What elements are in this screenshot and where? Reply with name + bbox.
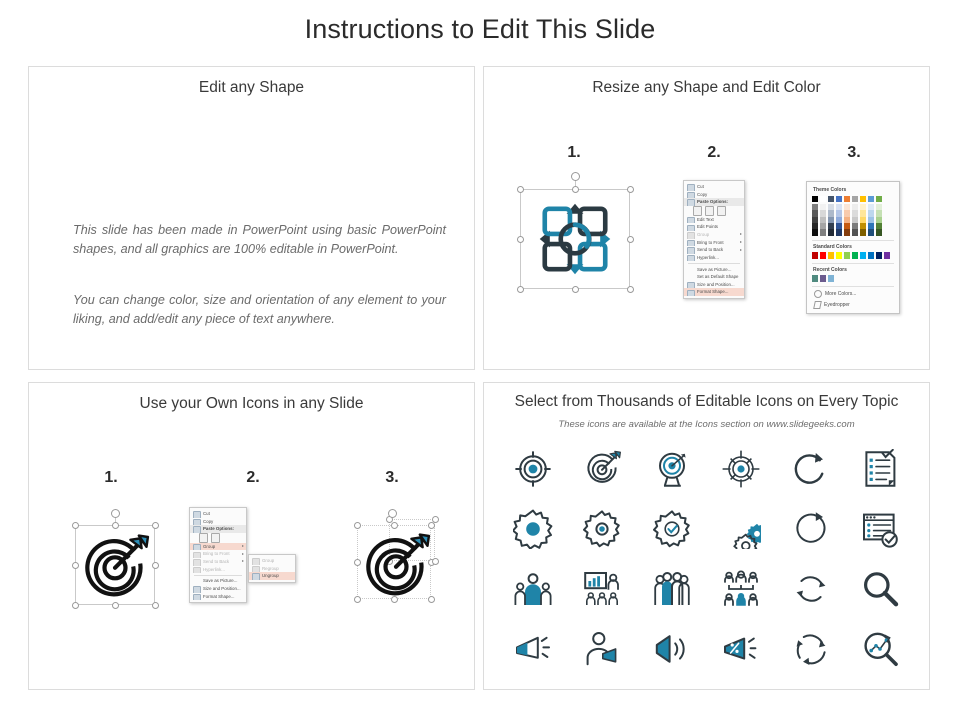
icon-cell[interactable]: [580, 447, 624, 491]
team-leader-icon: [513, 569, 553, 609]
menu-item-size-and-position[interactable]: Size and Position...: [190, 585, 246, 593]
picker-divider-3: [812, 286, 894, 287]
color-swatch[interactable]: [852, 196, 858, 202]
dartboard-arrow-ungrouped-icon: [361, 529, 431, 599]
team-hierarchy-icon: [721, 569, 761, 609]
step-number-3: 3.: [824, 144, 884, 162]
resize-handle-e[interactable]: [152, 562, 159, 569]
hyperlink-icon: [687, 255, 695, 261]
presentation-audience-icon: [582, 569, 622, 609]
icon-cell[interactable]: [719, 447, 763, 491]
panel-title-resize-shape: Resize any Shape and Edit Color: [484, 79, 929, 97]
theme-colors-label: Theme Colors: [813, 187, 894, 193]
menu-item-group[interactable]: Group: [190, 543, 246, 551]
step-number-3: 3.: [362, 469, 422, 487]
chevron-right-icon: [740, 249, 742, 251]
resize-handle-sw[interactable]: [72, 602, 79, 609]
resize-handle-ne[interactable]: [428, 522, 435, 529]
step-number-1: 1.: [81, 469, 141, 487]
menu-item-bring-to-front[interactable]: Bring to Front: [684, 239, 744, 247]
recent-colors-row[interactable]: [812, 275, 894, 281]
resize-handle-ne[interactable]: [152, 522, 159, 529]
color-swatch[interactable]: [836, 252, 842, 258]
target-stand-arrow-icon: [652, 449, 692, 489]
dartboard-arrow-icon: [80, 530, 150, 600]
color-swatch[interactable]: [828, 275, 834, 281]
color-swatch[interactable]: [836, 229, 842, 235]
rotate-handle[interactable]: [111, 509, 120, 518]
paste-text-only-icon[interactable]: [717, 206, 726, 216]
clipboard-icon: [193, 526, 201, 532]
submenu-item-ungroup[interactable]: Ungroup: [249, 572, 295, 580]
description-paragraph-1: This slide has been made in PowerPoint u…: [73, 221, 446, 259]
color-swatch[interactable]: [812, 252, 818, 258]
color-swatch[interactable]: [828, 252, 834, 258]
paste-picture-icon[interactable]: [705, 206, 714, 216]
group-people-icon: [652, 569, 692, 609]
megaphone-icon: [513, 629, 553, 669]
menu-item-copy[interactable]: Copy: [684, 191, 744, 199]
color-swatch[interactable]: [860, 196, 866, 202]
gear-filled-icon: [513, 509, 553, 549]
color-swatch[interactable]: [844, 229, 850, 235]
chevron-right-icon: [740, 241, 742, 243]
resize-shape-demo[interactable]: [515, 177, 635, 297]
panel-title-own-icons: Use your Own Icons in any Slide: [29, 395, 474, 413]
icon-cell[interactable]: [789, 507, 833, 551]
menu-separator: [688, 263, 740, 264]
crosshair-scope-icon: [721, 449, 761, 489]
chevron-right-icon: [242, 560, 244, 562]
color-swatch[interactable]: [876, 252, 882, 258]
menu-item-format-shape[interactable]: Format Shape...: [190, 593, 246, 601]
panel-own-icons: Use your Own Icons in any Slide 1. 2. 3.: [28, 382, 475, 690]
panel-edit-any-shape: Edit any Shape This slide has been made …: [28, 66, 475, 370]
color-wheel-icon: [814, 290, 822, 298]
more-colors-option[interactable]: More Colors...: [812, 290, 894, 298]
menu-item-format-shape[interactable]: Format Shape...: [684, 288, 744, 296]
refresh-circle-arrow-icon: [791, 509, 831, 549]
icon-cell[interactable]: [511, 447, 555, 491]
standard-colors-row[interactable]: [812, 252, 894, 258]
menu-item-copy[interactable]: Copy: [190, 518, 246, 526]
color-swatch[interactable]: [812, 229, 818, 235]
color-swatch[interactable]: [820, 229, 826, 235]
icon-cell[interactable]: [719, 627, 763, 671]
menu-item-cut[interactable]: Cut: [684, 183, 744, 191]
theme-tint-column[interactable]: [852, 204, 858, 236]
icon-cell[interactable]: [650, 627, 694, 671]
menu-item-send-to-back: Send to Back: [190, 558, 246, 566]
person-megaphone-icon: [582, 629, 622, 669]
panel-subtitle-icon-library: These icons are available at the Icons s…: [484, 419, 929, 430]
two-way-sync-icon: [791, 569, 831, 609]
theme-tint-column[interactable]: [844, 204, 850, 236]
menu-item-cut[interactable]: Cut: [190, 510, 246, 518]
menu-item-save-as-picture[interactable]: Save as Picture...: [684, 266, 744, 274]
icon-cell[interactable]: [858, 627, 902, 671]
icon-cell[interactable]: [858, 507, 902, 551]
menu-item-size-and-position[interactable]: Size and Position...: [684, 281, 744, 289]
gear-check-icon: [652, 509, 692, 549]
panel-resize-shape: Resize any Shape and Edit Color 1. 2. 3.: [483, 66, 930, 370]
clipboard-icon: [687, 199, 695, 205]
chevron-right-icon: [740, 233, 742, 235]
color-swatch[interactable]: [868, 196, 874, 202]
dartboard-arrow-icon: [582, 449, 622, 489]
step-number-1: 1.: [544, 144, 604, 162]
resize-handle-w[interactable]: [354, 559, 361, 566]
resize-handle-s[interactable]: [572, 286, 579, 293]
menu-item-paste-options[interactable]: Paste Options:: [684, 198, 744, 206]
megaphone-percent-icon: [721, 629, 761, 669]
submenu-item-regroup: Regroup: [249, 565, 295, 573]
resize-handle-sw[interactable]: [517, 286, 524, 293]
color-swatch[interactable]: [884, 252, 890, 258]
icon-cell[interactable]: [858, 567, 902, 611]
menu-item-edit-points[interactable]: Edit Points: [684, 223, 744, 231]
dartboard-ungrouped-demo[interactable]: [345, 509, 445, 611]
rotate-handle[interactable]: [388, 509, 397, 518]
icon-cell[interactable]: [719, 507, 763, 551]
theme-tint-column[interactable]: [828, 204, 834, 236]
icon-cell[interactable]: [580, 627, 624, 671]
description-paragraph-2: You can change color, size and orientati…: [73, 291, 446, 329]
panel-icon-library: Select from Thousands of Editable Icons …: [483, 382, 930, 690]
color-swatch[interactable]: [852, 229, 858, 235]
color-swatch[interactable]: [828, 229, 834, 235]
checklist-document-icon: [860, 449, 900, 489]
format-shape-icon: [687, 290, 695, 296]
theme-tint-column[interactable]: [836, 204, 842, 236]
speaker-announce-icon: [652, 629, 692, 669]
icon-cell[interactable]: [650, 447, 694, 491]
resize-handle-e[interactable]: [627, 236, 634, 243]
color-swatch[interactable]: [820, 275, 826, 281]
submenu-item-group: Group: [249, 557, 295, 565]
recent-colors-label: Recent Colors: [813, 267, 894, 273]
part-handle-se[interactable]: [432, 558, 439, 565]
color-swatch[interactable]: [836, 196, 842, 202]
rotate-handle[interactable]: [571, 172, 580, 181]
page-title: Instructions to Edit This Slide: [0, 14, 960, 45]
picker-divider: [812, 240, 894, 241]
icon-context-menu[interactable]: Cut Copy Paste Options: Group Bring to F…: [189, 507, 247, 603]
icon-cell[interactable]: [789, 627, 833, 671]
eyedropper-option[interactable]: Eyedropper: [812, 301, 894, 309]
menu-item-hyperlink: Hyperlink...: [190, 566, 246, 574]
step-number-2: 2.: [684, 144, 744, 162]
color-swatch[interactable]: [844, 196, 850, 202]
theme-tint-column[interactable]: [820, 204, 826, 236]
icon-cell[interactable]: [789, 447, 833, 491]
resize-handle-n[interactable]: [572, 186, 579, 193]
icon-cell[interactable]: [650, 507, 694, 551]
paste-options-row[interactable]: [684, 206, 744, 216]
eyedropper-icon: [813, 301, 822, 309]
step-number-2: 2.: [223, 469, 283, 487]
menu-item-paste-options[interactable]: Paste Options:: [190, 525, 246, 533]
resize-handle-s[interactable]: [112, 602, 119, 609]
paste-picture-icon[interactable]: [211, 533, 220, 543]
color-swatch[interactable]: [868, 229, 874, 235]
color-swatch[interactable]: [820, 196, 826, 202]
resize-handle-n[interactable]: [391, 522, 398, 529]
icon-cell[interactable]: [511, 567, 555, 611]
color-swatch[interactable]: [828, 196, 834, 202]
format-shape-icon: [193, 594, 201, 600]
double-gear-icon: [721, 509, 761, 549]
chevron-right-icon: [242, 553, 244, 555]
checklist-approved-icon: [860, 509, 900, 549]
dartboard-grouped-demo[interactable]: [67, 511, 163, 611]
resize-handle-w[interactable]: [72, 562, 79, 569]
icon-cell[interactable]: [580, 567, 624, 611]
color-swatch[interactable]: [812, 275, 818, 281]
paste-keep-formatting-icon[interactable]: [693, 206, 702, 216]
icon-cell[interactable]: [789, 567, 833, 611]
color-swatch[interactable]: [860, 252, 866, 258]
menu-item-send-to-back[interactable]: Send to Back: [684, 246, 744, 254]
color-swatch[interactable]: [860, 229, 866, 235]
color-swatch[interactable]: [876, 229, 882, 235]
magnifier-icon: [860, 569, 900, 609]
resize-handle-nw[interactable]: [72, 522, 79, 529]
icon-cell[interactable]: [650, 567, 694, 611]
chevron-right-icon: [242, 545, 244, 547]
ungroup-icon: [252, 573, 260, 579]
icon-library-grid: [498, 439, 915, 679]
theme-tint-column[interactable]: [876, 204, 882, 236]
menu-item-group: Group: [684, 231, 744, 239]
theme-colors-base-row[interactable]: [812, 196, 894, 202]
four-squares-resize-icon: [528, 197, 622, 281]
icon-cell[interactable]: [511, 627, 555, 671]
icon-cell[interactable]: [511, 507, 555, 551]
slide-canvas: Instructions to Edit This Slide Edit any…: [0, 0, 960, 720]
part-handle-ne[interactable]: [432, 516, 439, 523]
theme-tint-column[interactable]: [860, 204, 866, 236]
resize-handle-n[interactable]: [112, 522, 119, 529]
resize-handle-ne[interactable]: [627, 186, 634, 193]
color-swatch[interactable]: [876, 196, 882, 202]
picker-divider-2: [812, 263, 894, 264]
panel-title-icon-library: Select from Thousands of Editable Icons …: [484, 393, 929, 411]
gear-outline-icon: [582, 509, 622, 549]
standard-colors-label: Standard Colors: [813, 244, 894, 250]
menu-item-hyperlink[interactable]: Hyperlink...: [684, 254, 744, 262]
group-submenu[interactable]: Group Regroup Ungroup: [248, 554, 296, 583]
resize-handle-nw[interactable]: [517, 186, 524, 193]
paste-options-row[interactable]: [190, 533, 246, 543]
color-swatch[interactable]: [852, 252, 858, 258]
icon-cell[interactable]: [719, 567, 763, 611]
theme-colors-tint-grid[interactable]: [812, 204, 894, 236]
resize-handle-se[interactable]: [152, 602, 159, 609]
resize-handle-nw[interactable]: [354, 522, 361, 529]
menu-item-bring-to-front: Bring to Front: [190, 550, 246, 558]
icon-cell[interactable]: [580, 507, 624, 551]
color-swatch[interactable]: [812, 196, 818, 202]
magnifier-analytics-icon: [860, 629, 900, 669]
menu-item-set-default-shape[interactable]: Set as Default Shape: [684, 273, 744, 281]
three-way-cycle-icon: [791, 629, 831, 669]
color-picker-panel[interactable]: Theme Colors Standard Colors Recent Colo…: [806, 181, 900, 314]
resize-handle-se[interactable]: [627, 286, 634, 293]
panel-title-edit-shape: Edit any Shape: [29, 79, 474, 97]
shape-context-menu[interactable]: Cut Copy Paste Options: Edit Text Edit P…: [683, 180, 745, 299]
theme-tint-column[interactable]: [812, 204, 818, 236]
color-swatch[interactable]: [820, 252, 826, 258]
icon-cell[interactable]: [858, 447, 902, 491]
paste-keep-formatting-icon[interactable]: [199, 533, 208, 543]
color-swatch[interactable]: [868, 252, 874, 258]
menu-item-edit-text[interactable]: Edit Text: [684, 216, 744, 224]
color-swatch[interactable]: [844, 252, 850, 258]
theme-tint-column[interactable]: [868, 204, 874, 236]
resize-handle-sw[interactable]: [354, 596, 361, 603]
hyperlink-icon: [193, 567, 201, 573]
target-crosshair-filled-icon: [513, 449, 553, 489]
menu-item-save-as-picture[interactable]: Save as Picture...: [190, 577, 246, 585]
resize-handle-w[interactable]: [517, 236, 524, 243]
rotate-clockwise-arrow-icon: [791, 449, 831, 489]
menu-separator: [194, 575, 242, 576]
